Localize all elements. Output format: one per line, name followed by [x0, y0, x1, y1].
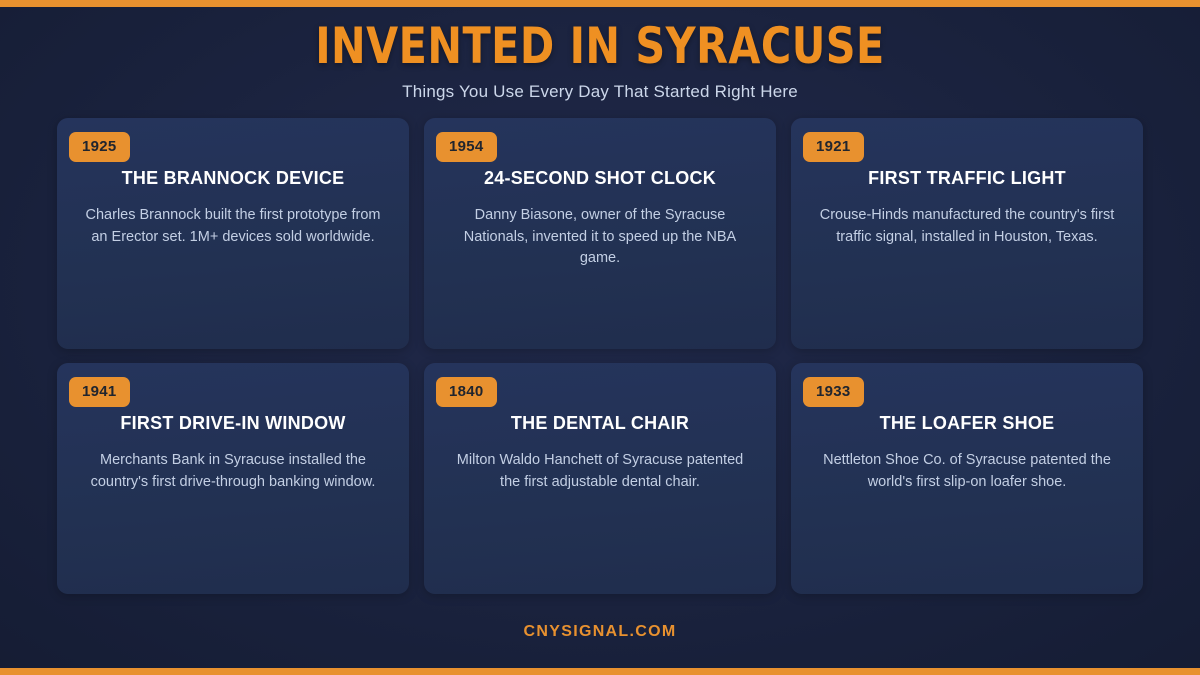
card-title: The Dental Chair — [446, 413, 754, 434]
card-body: Danny Biasone, owner of the Syracuse Nat… — [446, 205, 754, 270]
footer-website-link[interactable]: CNYSIGNAL.COM — [524, 623, 677, 640]
card-title: 24-Second Shot Clock — [446, 168, 754, 189]
page-subtitle: Things You Use Every Day That Started Ri… — [0, 82, 1200, 102]
top-accent-bar — [0, 0, 1200, 7]
invention-card[interactable]: 1840 The Dental Chair Milton Waldo Hanch… — [424, 363, 776, 594]
year-badge: 1925 — [69, 132, 130, 162]
invention-card[interactable]: 1941 First Drive-In Window Merchants Ban… — [57, 363, 409, 594]
card-body: Merchants Bank in Syracuse installed the… — [79, 450, 387, 493]
year-badge: 1921 — [803, 132, 864, 162]
header: Invented in Syracuse Things You Use Ever… — [0, 7, 1200, 102]
year-badge: 1954 — [436, 132, 497, 162]
card-title: First Traffic Light — [813, 168, 1121, 189]
invention-card[interactable]: 1925 The Brannock Device Charles Brannoc… — [57, 118, 409, 349]
footer: CNYSIGNAL.COM — [0, 623, 1200, 641]
card-title: First Drive-In Window — [79, 413, 387, 434]
invention-card[interactable]: 1954 24-Second Shot Clock Danny Biasone,… — [424, 118, 776, 349]
invention-card[interactable]: 1933 The Loafer Shoe Nettleton Shoe Co. … — [791, 363, 1143, 594]
page-title: Invented in Syracuse — [48, 21, 1152, 71]
card-body: Nettleton Shoe Co. of Syracuse patented … — [813, 450, 1121, 493]
card-title: The Loafer Shoe — [813, 413, 1121, 434]
slide-stage: Invented in Syracuse Things You Use Ever… — [0, 7, 1200, 668]
invention-card[interactable]: 1921 First Traffic Light Crouse-Hinds ma… — [791, 118, 1143, 349]
card-body: Milton Waldo Hanchett of Syracuse patent… — [446, 450, 754, 493]
invention-card-grid: 1925 The Brannock Device Charles Brannoc… — [57, 118, 1143, 594]
bottom-accent-bar — [0, 668, 1200, 675]
year-badge: 1840 — [436, 377, 497, 407]
card-body: Charles Brannock built the first prototy… — [79, 205, 387, 248]
card-body: Crouse-Hinds manufactured the country's … — [813, 205, 1121, 248]
card-title: The Brannock Device — [79, 168, 387, 189]
year-badge: 1933 — [803, 377, 864, 407]
year-badge: 1941 — [69, 377, 130, 407]
